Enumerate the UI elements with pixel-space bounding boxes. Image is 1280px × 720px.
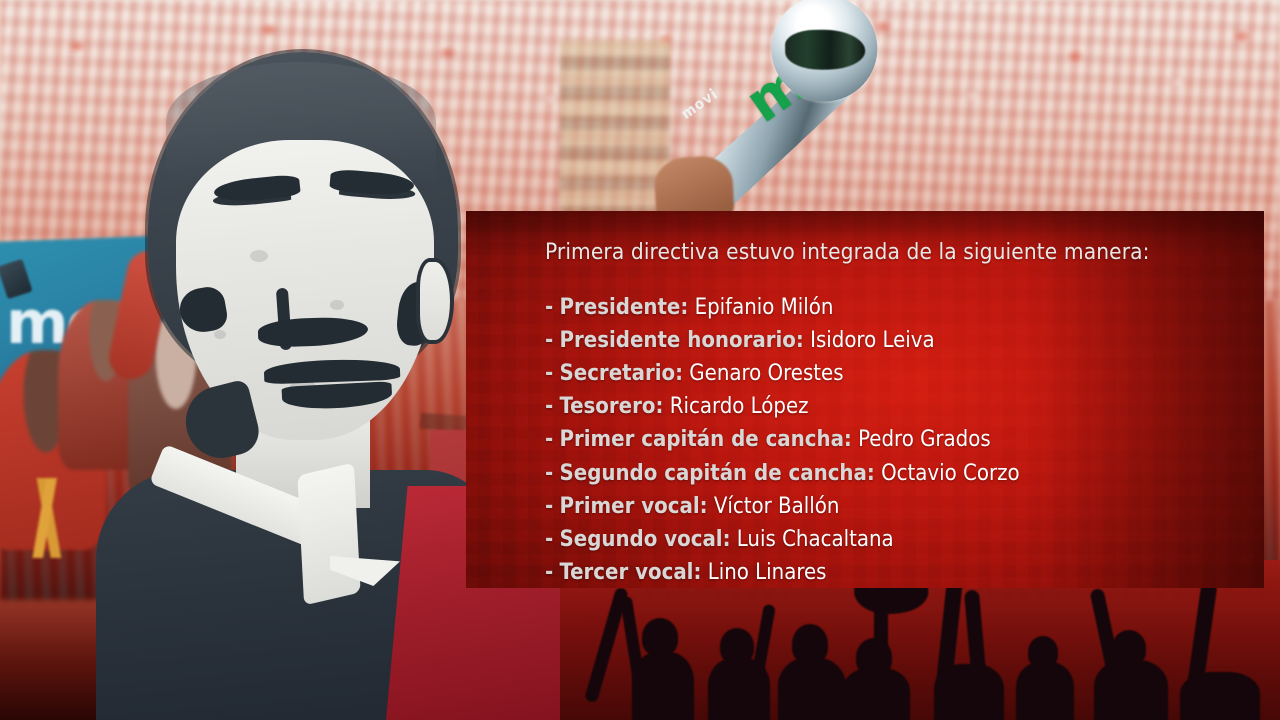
list-item: - Presidente honorario: Isidoro Leiva [545, 324, 1264, 357]
member-name: Epifanio Milón [695, 295, 834, 320]
list-bullet-dash: - [545, 494, 553, 519]
board-members-list: - Presidente: Epifanio Milón - President… [545, 291, 1264, 590]
list-item: - Secretario: Genaro Orestes [545, 357, 1264, 390]
member-name: Ricardo López [670, 394, 809, 419]
silhouette-body [934, 664, 1004, 720]
silhouette-body [842, 668, 910, 720]
list-item: - Primer capitán de cancha: Pedro Grados [545, 423, 1264, 456]
member-name: Genaro Orestes [689, 361, 843, 386]
silhouette-body [1180, 672, 1260, 720]
silhouette-body [778, 658, 846, 720]
portrait-collar-right [297, 463, 360, 606]
list-bullet-dash: - [545, 427, 553, 452]
portrait-ear [420, 262, 450, 340]
list-item: - Tesorero: Ricardo López [545, 390, 1264, 423]
silhouette-body [1016, 662, 1074, 720]
member-name: Víctor Ballón [714, 494, 840, 519]
list-item: - Segundo vocal: Luis Chacaltana [545, 523, 1264, 556]
list-item: - Segundo capitán de cancha: Octavio Cor… [545, 457, 1264, 490]
member-role: Presidente: [560, 295, 689, 320]
member-name: Lino Linares [708, 560, 827, 585]
member-role: Tesorero: [560, 394, 664, 419]
silhouette-body [632, 652, 694, 720]
member-role: Segundo vocal: [560, 527, 731, 552]
list-bullet-dash: - [545, 328, 553, 353]
member-role: Primer vocal: [560, 494, 708, 519]
member-role: Primer capitán de cancha: [560, 427, 852, 452]
list-item: - Tercer vocal: Lino Linares [545, 556, 1264, 589]
info-panel-content: Primera directiva estuvo integrada de la… [466, 211, 1264, 589]
member-name: Octavio Corzo [881, 461, 1020, 486]
member-name: Pedro Grados [858, 427, 991, 452]
silhouette-head [642, 618, 678, 656]
list-item: - Presidente: Epifanio Milón [545, 291, 1264, 324]
silhouette-body [1094, 660, 1168, 720]
face-texture-spot [214, 330, 226, 339]
member-name: Luis Chacaltana [737, 527, 894, 552]
list-bullet-dash: - [545, 295, 553, 320]
list-bullet-dash: - [545, 527, 553, 552]
championship-trophy: movi m [683, 0, 936, 238]
face-texture-spot [250, 250, 268, 262]
panel-heading: Primera directiva estuvo integrada de la… [545, 241, 1264, 264]
list-bullet-dash: - [545, 361, 553, 386]
member-role: Secretario: [560, 361, 683, 386]
member-role: Tercer vocal: [560, 560, 702, 585]
member-role: Presidente honorario: [560, 328, 804, 353]
face-texture-spot [330, 300, 344, 310]
list-item: - Primer vocal: Víctor Ballón [545, 490, 1264, 523]
list-bullet-dash: - [545, 461, 553, 486]
list-bullet-dash: - [545, 560, 553, 585]
member-name: Isidoro Leiva [810, 328, 935, 353]
list-bullet-dash: - [545, 394, 553, 419]
member-role: Segundo capitán de cancha: [560, 461, 875, 486]
news-graphic-stage: mo movi m [0, 0, 1280, 720]
info-panel: Primera directiva estuvo integrada de la… [466, 211, 1264, 588]
